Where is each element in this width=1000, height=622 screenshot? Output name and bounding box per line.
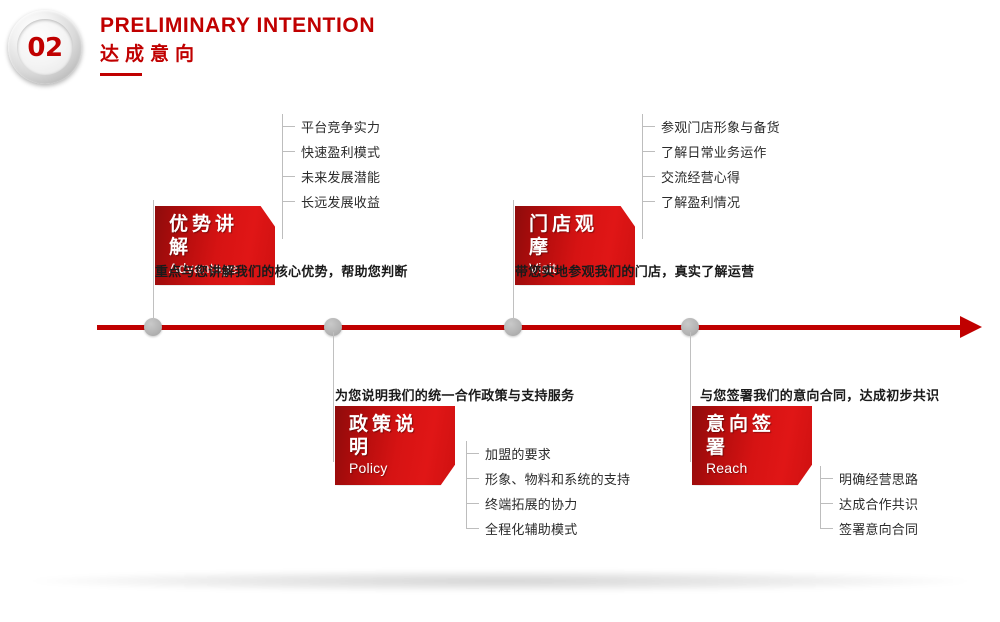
list-item: 交流经营心得 [642,164,780,189]
timeline-axis [97,325,965,330]
page-title-english: PRELIMINARY INTENTION [100,14,375,38]
bullet-label: 签署意向合同 [833,519,918,538]
list-item: 了解盈利情况 [642,189,780,214]
stem-policy [333,332,334,462]
bullet-tick-icon [820,503,833,504]
bullet-tick-icon [466,528,479,529]
list-item: 签署意向合同 [820,516,918,541]
bullet-label: 参观门店形象与备货 [655,117,780,136]
bullet-tick-icon [642,176,655,177]
stage-description-advantage: 重点与您讲解我们的核心优势，帮助您判断 [155,261,408,280]
bullet-tick-icon [642,126,655,127]
stem-advantage [153,200,154,322]
bullet-label: 了解日常业务运作 [655,142,767,161]
stage-banner-label-en: Reach [706,460,778,477]
list-item: 加盟的要求 [466,441,630,466]
list-item: 全程化辅助模式 [466,516,630,541]
badge-number-label: 02 [27,33,62,61]
stage-banner-label-cn: 意向签署 [706,413,778,459]
stage-description-reach: 与您签署我们的意向合同，达成初步共识 [700,385,939,404]
bullet-label: 达成合作共识 [833,494,918,513]
bullet-tick-icon [282,201,295,202]
stage-banner-reach[interactable]: 意向签署 Reach [692,406,812,485]
bullet-tick-icon [466,453,479,454]
title-underline-rule [100,73,142,76]
bullet-label: 了解盈利情况 [655,192,740,211]
bullet-tree-reach: 明确经营思路 达成合作共识 签署意向合同 [820,466,918,541]
list-item: 快速盈利模式 [282,139,380,164]
bullet-tree-visit: 参观门店形象与备货 了解日常业务运作 交流经营心得 了解盈利情况 [642,114,780,214]
bullet-label: 终端拓展的协力 [479,494,577,513]
stage-description-policy: 为您说明我们的统一合作政策与支持服务 [335,385,574,404]
bullet-label: 平台竞争实力 [295,117,380,136]
list-item: 了解日常业务运作 [642,139,780,164]
list-item: 平台竞争实力 [282,114,380,139]
stage-banner-label-cn: 政策说明 [349,413,421,459]
bullet-tick-icon [642,151,655,152]
list-item: 未来发展潜能 [282,164,380,189]
bullet-label: 加盟的要求 [479,444,551,463]
bullet-tick-icon [282,126,295,127]
stage-description-visit: 带您实地参观我们的门店，真实了解运营 [515,261,754,280]
bullet-label: 快速盈利模式 [295,142,380,161]
bullet-tick-icon [820,528,833,529]
list-item: 明确经营思路 [820,466,918,491]
bullet-tick-icon [282,151,295,152]
bullet-tick-icon [282,176,295,177]
bullet-label: 形象、物料和系统的支持 [479,469,630,488]
list-item: 长远发展收益 [282,189,380,214]
stage-banner-label-cn: 门店观摩 [529,213,601,259]
bullet-tick-icon [642,201,655,202]
stage-banner-label-cn: 优势讲解 [169,213,241,259]
slide-header: PRELIMINARY INTENTION 达成意向 [100,14,375,76]
bullet-label: 未来发展潜能 [295,167,380,186]
section-number-badge: 02 [8,10,82,84]
stem-visit [513,200,514,322]
bullet-label: 全程化辅助模式 [479,519,577,538]
bullet-tree-advantage: 平台竞争实力 快速盈利模式 未来发展潜能 长远发展收益 [282,114,380,214]
list-item: 参观门店形象与备货 [642,114,780,139]
bullet-label: 明确经营思路 [833,469,918,488]
bullet-tree-policy: 加盟的要求 形象、物料和系统的支持 终端拓展的协力 全程化辅助模式 [466,441,630,541]
page-title-chinese: 达成意向 [100,44,375,66]
list-item: 终端拓展的协力 [466,491,630,516]
timeline-arrow-head-icon [960,316,982,338]
badge-inner-ring: 02 [17,19,73,75]
stem-reach [690,332,691,462]
stage-banner-policy[interactable]: 政策说明 Policy [335,406,455,485]
bullet-label: 长远发展收益 [295,192,380,211]
list-item: 达成合作共识 [820,491,918,516]
bullet-tick-icon [466,478,479,479]
list-item: 形象、物料和系统的支持 [466,466,630,491]
bullet-tick-icon [466,503,479,504]
slide-canvas: 02 PRELIMINARY INTENTION 达成意向 平台竞争实力 快速盈… [0,0,1000,622]
stage-banner-label-en: Policy [349,460,421,477]
bullet-tick-icon [820,478,833,479]
bullet-label: 交流经营心得 [655,167,740,186]
slide-bottom-shadow [30,570,970,592]
